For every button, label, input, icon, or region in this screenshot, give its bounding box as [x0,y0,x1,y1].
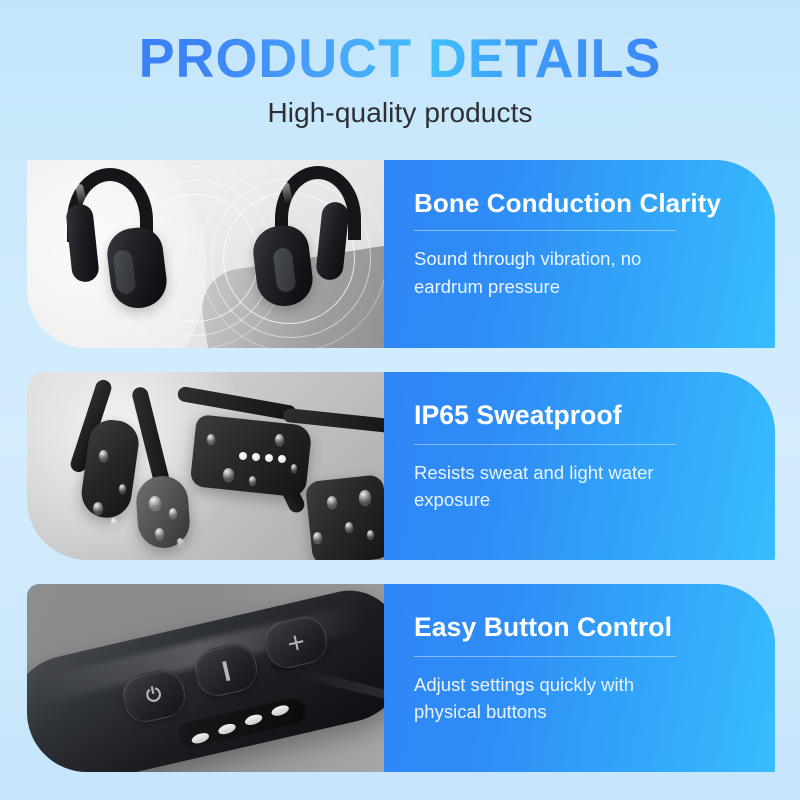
led-dot-icon [252,453,260,461]
water-droplet-icon [111,518,117,526]
feature-panel: IP65 Sweatproof Resists sweat and light … [384,372,775,560]
bone-conduction-photo [27,160,384,348]
led-dot-icon [217,722,237,736]
water-droplet-icon [359,490,371,505]
feature-card-easy-button-control[interactable]: ⏻ ❙ ＋ Easy Button Control Adjust setting… [27,584,775,772]
water-droplet-icon [207,434,215,444]
led-dot-icon [278,455,286,463]
water-droplet-icon [177,538,184,546]
feature-panel: Easy Button Control Adjust settings quic… [384,584,775,772]
divider [414,230,676,231]
earpiece-body [305,474,384,560]
led-dot-icon [239,452,247,460]
page-subtitle: High-quality products [0,97,800,129]
earpiece-body [190,414,313,498]
water-droplet-icon [291,464,297,472]
feature-title: Bone Conduction Clarity [414,188,749,218]
water-droplet-icon [99,450,108,461]
water-droplet-icon [155,528,164,539]
feature-card-ip65-sweatproof[interactable]: IP65 Sweatproof Resists sweat and light … [27,372,775,560]
sweatproof-photo [27,372,384,560]
led-dot-icon [270,703,290,717]
water-droplet-icon [327,496,337,508]
feature-description: Sound through vibration, no eardrum pres… [414,245,704,300]
feature-card-bone-conduction[interactable]: Bone Conduction Clarity Sound through vi… [27,160,775,348]
water-droplet-icon [313,532,322,543]
feature-title: IP65 Sweatproof [414,400,749,431]
feature-card-list: Bone Conduction Clarity Sound through vi… [27,160,775,796]
water-droplet-icon [169,508,177,518]
product-details-page: PRODUCT DETAILS High-quality products [0,0,800,800]
page-title: PRODUCT DETAILS [8,30,792,88]
led-dot-icon [265,454,273,462]
feature-panel: Bone Conduction Clarity Sound through vi… [384,160,775,348]
water-droplet-icon [275,434,284,445]
water-droplet-icon [223,468,234,481]
feature-description: Adjust settings quickly with physical bu… [414,671,704,726]
button-control-photo: ⏻ ❙ ＋ [27,584,384,772]
led-dot-icon [190,731,210,745]
header: PRODUCT DETAILS High-quality products [0,0,800,129]
feature-title: Easy Button Control [414,612,749,643]
led-dot-icon [244,713,264,727]
water-droplet-icon [367,530,374,539]
water-droplet-icon [249,476,256,485]
water-droplet-icon [119,484,126,493]
feature-description: Resists sweat and light water exposure [414,459,704,514]
water-droplet-icon [345,522,353,532]
divider [414,656,676,657]
water-droplet-icon [149,496,161,510]
water-droplet-icon [93,502,103,514]
divider [414,444,676,445]
